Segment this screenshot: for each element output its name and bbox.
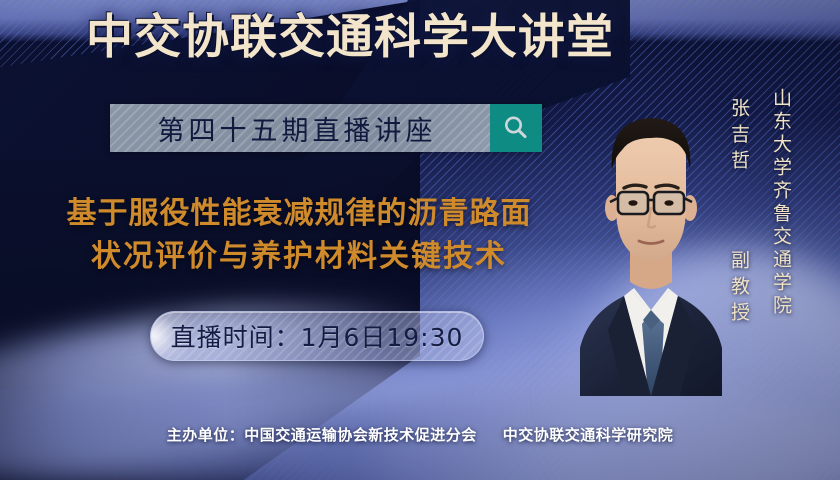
speaker-photo (568, 96, 734, 396)
promo-poster: 中交协联交通科学大讲堂 第四十五期直播讲座 基于服役性能衰减规律的沥青路面 状况… (0, 0, 840, 480)
topic-line-2: 状况评价与养护材料关键技术 (18, 236, 580, 279)
speaker-organization: 山东大学齐鲁交通学院 (768, 88, 795, 318)
broadcast-time-badge: 直播时间：1月6日19:30 (150, 311, 484, 361)
footer-prefix: 主办单位： (167, 426, 245, 444)
search-icon (501, 113, 531, 143)
footer-organizer-2: 中交协联交通科学研究院 (503, 426, 674, 444)
episode-label: 第四十五期直播讲座 (110, 104, 490, 152)
search-button[interactable] (490, 104, 542, 152)
speaker-name-block: 张吉哲 副教授 (726, 98, 753, 328)
speaker-title: 副教授 (728, 250, 750, 328)
footer-organizers: 主办单位：中国交通运输协会新技术促进分会中交协联交通科学研究院 (0, 424, 840, 445)
lecture-topic: 基于服役性能衰减规律的沥青路面 状况评价与养护材料关键技术 (18, 193, 580, 278)
speaker-name: 张吉哲 (728, 98, 750, 176)
footer-organizer-1: 中国交通运输协会新技术促进分会 (244, 426, 477, 444)
page-title: 中交协联交通科学大讲堂 (0, 14, 700, 61)
topic-line-1: 基于服役性能衰减规律的沥青路面 (18, 193, 580, 236)
broadcast-time-label: 直播时间：1月6日19:30 (171, 318, 464, 354)
episode-banner: 第四十五期直播讲座 (110, 104, 542, 152)
